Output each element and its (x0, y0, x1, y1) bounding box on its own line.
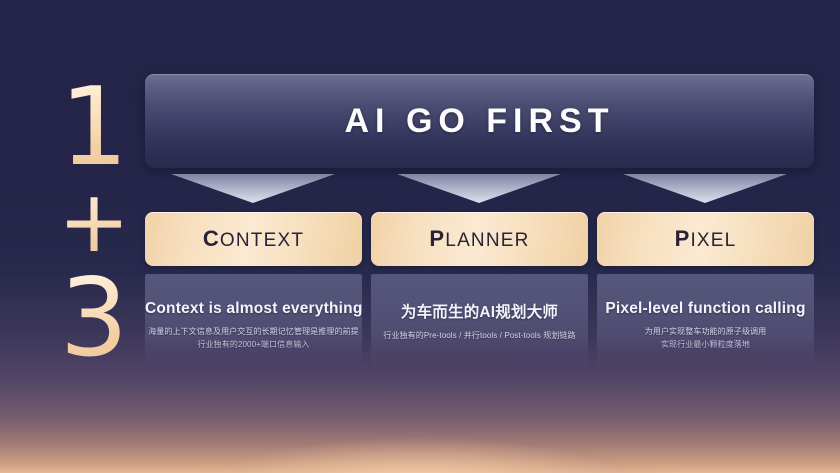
panel-pixel: Pixel-level function calling 为用户实现整车功能的原… (597, 274, 814, 376)
panel-context-sub-line-2: 行业独有的2000+端口信息输入 (145, 338, 362, 351)
panel-planner-subtitle: 行业独有的Pre-tools / 并行tools / Post-tools 规划… (371, 329, 588, 342)
slide-canvas: 1 + 3 AI GO FIRST (0, 0, 840, 473)
page-title: AI GO FIRST (345, 102, 615, 141)
panel-pixel-title: Pixel-level function calling (597, 300, 814, 318)
numeral-one: 1 (60, 78, 129, 177)
badge-context-rest: ONTEXT (220, 230, 304, 251)
numeral-plus: + (58, 183, 130, 262)
badge-context[interactable]: CONTEXT (145, 212, 362, 266)
chevron-down-icon-context (171, 172, 335, 206)
column-planner: PLANNER (371, 212, 588, 266)
panel-pixel-sub-line-1: 为用户实现整车功能的原子级调用 (597, 325, 814, 338)
panel-context-subtitle: 海量的上下文信息及用户交互的长期记忆管理是推理的前提 行业独有的2000+端口信… (145, 325, 362, 351)
panel-context: Context is almost everything 海量的上下文信息及用户… (145, 274, 362, 376)
badge-pixel-label: PIXEL (675, 226, 737, 252)
panel-context-sub-line-1: 海量的上下文信息及用户交互的长期记忆管理是推理的前提 (145, 325, 362, 338)
badge-pixel-rest: IXEL (690, 230, 736, 251)
panel-context-title: Context is almost everything (145, 300, 362, 318)
column-context: CONTEXT (145, 212, 362, 266)
badge-pixel[interactable]: PIXEL (597, 212, 814, 266)
panel-planner-title: 为车而生的AI规划大师 (371, 300, 588, 322)
badge-planner-rest: LANNER (445, 230, 529, 251)
panel-planner-sub-line-1: 行业独有的Pre-tools / 并行tools / Post-tools 规划… (371, 329, 588, 342)
column-pixel: PIXEL (597, 212, 814, 266)
numeral-three: 3 (60, 269, 129, 368)
chevron-down-icon-planner (397, 172, 561, 206)
panel-pixel-sub-line-2: 实现行业最小颗粒度落地 (597, 338, 814, 351)
panel-pixel-subtitle: 为用户实现整车功能的原子级调用 实现行业最小颗粒度落地 (597, 325, 814, 351)
badge-context-initial: C (203, 226, 220, 251)
panel-planner: 为车而生的AI规划大师 行业独有的Pre-tools / 并行tools / P… (371, 274, 588, 376)
chevron-down-icon-pixel (623, 172, 787, 206)
badge-planner[interactable]: PLANNER (371, 212, 588, 266)
left-numeral-stack: 1 + 3 (48, 78, 140, 368)
badge-planner-initial: P (429, 226, 445, 251)
headline-bar: AI GO FIRST (145, 74, 814, 168)
badge-context-label: CONTEXT (203, 226, 304, 252)
badge-planner-label: PLANNER (429, 226, 529, 252)
badge-pixel-initial: P (675, 226, 691, 251)
